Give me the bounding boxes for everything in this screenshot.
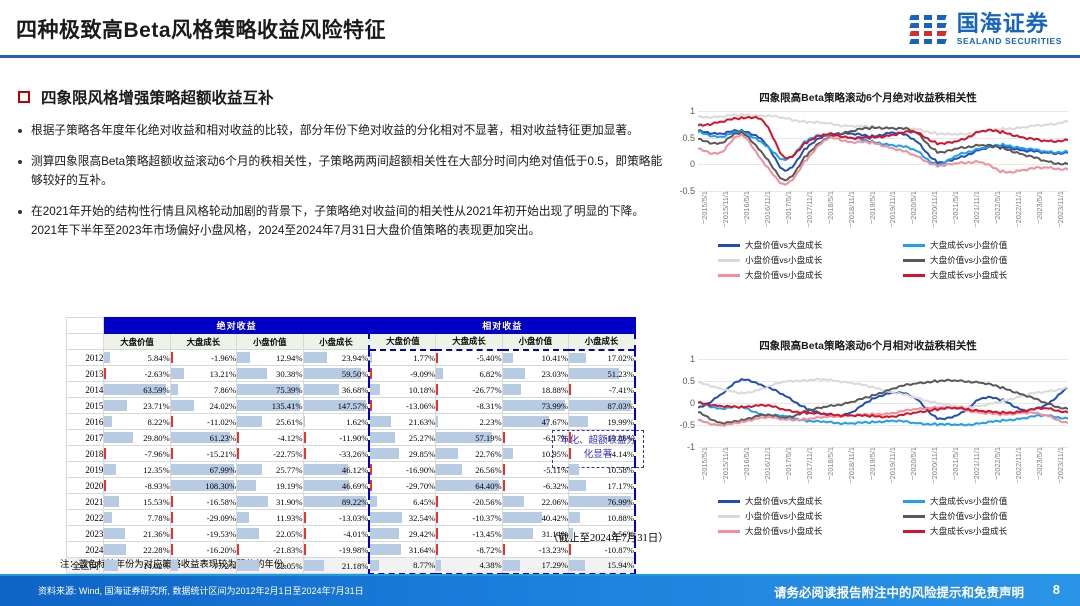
chart-x-tick-label: 2021/5/1 xyxy=(951,447,960,476)
table-cell-abs: 75.39% xyxy=(237,382,303,398)
legend-label: 大盘价值vs小盘成长 xyxy=(745,525,822,537)
cell-databar xyxy=(503,432,505,443)
table-cell-value: 47.67% xyxy=(542,417,569,427)
legend-label: 大盘成长vs小盘成长 xyxy=(930,269,1007,281)
cell-databar xyxy=(304,432,306,443)
table-cell-rel: 6.45% xyxy=(369,494,435,510)
legend-item[interactable]: 大盘价值vs小盘成长 xyxy=(718,269,889,281)
cell-databar xyxy=(237,544,239,555)
chart-x-tick-label: 2020/5/1 xyxy=(909,447,918,476)
cell-databar xyxy=(171,544,173,555)
cell-databar xyxy=(304,352,327,363)
table-cell-abs: 30.38% xyxy=(237,366,303,382)
chart-y-tick-label: -0.5 xyxy=(679,420,695,430)
legend-swatch-icon xyxy=(718,515,740,518)
table-cell-value: 3.56% xyxy=(612,529,634,539)
table-cell-abs: 11.93% xyxy=(237,510,303,526)
chart-x-tick-mark xyxy=(1060,223,1061,227)
table-sub-header: 小盘成长 xyxy=(569,334,635,350)
table-cell-value: 89.22% xyxy=(342,497,369,507)
table-cell-abs: 67.99% xyxy=(170,462,236,478)
table-cell-value: 8.22% xyxy=(148,417,170,427)
table-cell-value: 30.38% xyxy=(276,369,303,379)
table-row: 2018-7.96%-15.21%-22.75%-33.26%29.85%22.… xyxy=(67,446,636,462)
table-cell-abs: 24.02% xyxy=(170,398,236,414)
legend-swatch-icon xyxy=(718,530,740,533)
bullet-text: 根据子策略各年度年化绝对收益和相对收益的比较，部分年份下绝对收益的分化相对不显著… xyxy=(31,122,639,141)
table-cell-value: 8.77% xyxy=(413,560,435,570)
chart-x-tick-mark xyxy=(892,223,893,227)
square-bullet-icon xyxy=(18,91,30,103)
chart-x-tick-mark xyxy=(787,476,788,480)
table-cell-rel: -29.70% xyxy=(369,478,435,494)
table-sub-header: 大盘价值 xyxy=(369,334,435,350)
chart-title: 四象限高Beta策略滚动6个月相对收益秩相关性 xyxy=(662,338,1074,353)
table-cell-rel: -8.31% xyxy=(436,398,502,414)
table-cell-abs: 46.69% xyxy=(303,478,369,494)
table-cell-value: 23.03% xyxy=(542,369,569,379)
chart-x-tick-label: 2021/5/1 xyxy=(951,191,960,220)
cell-databar xyxy=(304,544,306,555)
list-item: 在2021年开始的结构性行情且风格轮动加剧的背景下，子策略绝对收益间的相关性从2… xyxy=(18,203,666,241)
table-cell-rel: -20.56% xyxy=(436,494,502,510)
table-row: 201523.71%24.02%135.41%147.57%-13.06%-8.… xyxy=(67,398,636,414)
table-cell-rel: 10.88% xyxy=(569,510,635,526)
table-cell-value: 51.23% xyxy=(608,369,635,379)
legend-label: 大盘成长vs小盘成长 xyxy=(930,525,1007,537)
table-cell-value: 17.17% xyxy=(608,481,635,491)
table-cell-abs: -13.03% xyxy=(303,510,369,526)
cell-databar xyxy=(569,384,571,395)
table-cell-rel: 40.42% xyxy=(502,510,568,526)
cell-databar xyxy=(304,528,306,539)
cell-databar xyxy=(569,416,588,427)
table-cell-value: -7.41% xyxy=(609,385,634,395)
table-cell-value: 24.02% xyxy=(210,401,237,411)
table-cell-abs: 21.18% xyxy=(303,558,369,574)
chart-x-axis: 2015/5/12015/11/12016/5/12016/11/12017/5… xyxy=(698,447,1068,493)
legend-item[interactable]: 大盘价值vs大盘成长 xyxy=(718,495,889,507)
cell-databar xyxy=(370,384,380,395)
chart-x-tick-mark xyxy=(913,220,914,224)
table-cell-abs: 8.22% xyxy=(104,414,170,430)
legend-item[interactable]: 大盘成长vs小盘成长 xyxy=(903,525,1074,537)
table-cell-value: -9.09% xyxy=(410,369,435,379)
table-row-year: 2013 xyxy=(67,366,104,382)
table-cell-rel: -10.37% xyxy=(436,510,502,526)
cell-databar xyxy=(503,464,505,475)
table-row: 2013-2.63%13.21%30.38%59.50%-9.09%6.82%2… xyxy=(67,366,636,382)
cell-databar xyxy=(304,560,324,571)
cell-databar xyxy=(569,448,571,459)
table-cell-value: 22.05% xyxy=(276,529,303,539)
table-cell-value: -19.98% xyxy=(339,545,368,555)
table-cell-value: 73.99% xyxy=(542,401,569,411)
table-cell-value: 19.99% xyxy=(608,417,635,427)
table-group-header-row: 绝对收益 相对收益 xyxy=(67,318,636,334)
table-cell-rel: 21.63% xyxy=(369,414,435,430)
table-cell-rel: 23.03% xyxy=(502,366,568,382)
table-cell-value: -8.72% xyxy=(477,545,502,555)
cell-databar xyxy=(569,432,571,443)
chart-x-tick-mark xyxy=(850,223,851,227)
cell-databar xyxy=(569,512,580,523)
cell-databar xyxy=(237,512,249,523)
cell-databar xyxy=(569,480,586,491)
table-cell-value: -4.12% xyxy=(277,433,302,443)
table-cell-rel: 8.77% xyxy=(369,558,435,574)
legend-item[interactable]: 大盘成长vs小盘价值 xyxy=(903,495,1074,507)
table-cell-value: 13.21% xyxy=(210,369,237,379)
legend-item[interactable]: 大盘价值vs小盘价值 xyxy=(903,510,1074,522)
cell-databar xyxy=(171,400,194,411)
table-cell-value: -15.21% xyxy=(207,449,236,459)
chart-x-tick-label: 2016/11/1 xyxy=(763,447,772,479)
legend-label: 小盘价值vs小盘成长 xyxy=(745,510,822,522)
chart-y-tick-label: 0 xyxy=(690,398,695,408)
legend-label: 大盘价值vs大盘成长 xyxy=(745,239,822,251)
chart-x-tick-mark xyxy=(892,479,893,483)
table-cell-rel: 10.41% xyxy=(502,350,568,366)
table-cell-value: -26.77% xyxy=(472,385,501,395)
chart-x-tick-label: 2018/11/1 xyxy=(847,191,856,223)
table-cell-abs: -19.53% xyxy=(170,526,236,542)
cell-databar xyxy=(104,400,127,411)
chart-x-tick-label: 2017/5/1 xyxy=(784,191,793,220)
table-cell-value: 23.71% xyxy=(143,401,170,411)
legend-swatch-icon xyxy=(903,500,925,503)
table-cell-value: 4.38% xyxy=(479,560,501,570)
cell-databar xyxy=(436,384,438,395)
chart-x-tick-label: 2020/11/1 xyxy=(930,447,939,479)
chart-x-tick-label: 2017/5/1 xyxy=(784,447,793,476)
section-heading-row: 四象限风格增强策略超额收益互补 xyxy=(18,86,666,108)
table-sub-header-row: 大盘价值大盘成长小盘价值小盘成长大盘价值大盘成长小盘价值小盘成长 xyxy=(67,334,636,350)
chart-title: 四象限高Beta策略滚动6个月绝对收益秩相关性 xyxy=(662,90,1074,105)
chart-y-tick-label: 1 xyxy=(690,106,695,116)
table-cell-value: 63.59% xyxy=(143,385,170,395)
chart-series-svg xyxy=(698,111,1068,191)
table-sub-header: 大盘成长 xyxy=(436,334,502,350)
table-cell-rel: 25.27% xyxy=(369,430,435,446)
chart-x-tick-label: 2023/11/1 xyxy=(1056,191,1065,223)
bullet-text: 在2021年开始的结构性行情且风格轮动加剧的背景下，子策略绝对收益间的相关性从2… xyxy=(31,203,666,241)
table-cell-abs: -4.01% xyxy=(303,526,369,542)
table-cell-value: -19.53% xyxy=(207,529,236,539)
table-row: 20168.22%-11.02%25.61%1.62%21.63%2.23%47… xyxy=(67,414,636,430)
chart-x-tick-label: 2019/5/1 xyxy=(868,447,877,476)
table-cell-rel: 15.94% xyxy=(569,558,635,574)
cell-databar xyxy=(569,544,571,555)
table-cell-abs: 7.86% xyxy=(170,382,236,398)
chart-x-tick-mark xyxy=(871,220,872,224)
chart-y-tick-label: 0.5 xyxy=(682,133,695,143)
chart-x-tick-mark xyxy=(829,220,830,224)
annual-return-table-wrapper: 绝对收益 相对收益 大盘价值大盘成长小盘价值小盘成长大盘价值大盘成长小盘价值小盘… xyxy=(66,317,636,575)
chart-x-tick-label: 2019/5/1 xyxy=(868,191,877,220)
table-cell-value: 10.18% xyxy=(409,385,436,395)
table-cell-rel: -9.09% xyxy=(369,366,435,382)
table-cell-value: -4.14% xyxy=(609,449,634,459)
chart-x-tick-label: 2015/11/1 xyxy=(721,191,730,223)
cell-databar xyxy=(436,496,438,507)
chart-x-tick-label: 2017/11/1 xyxy=(805,447,814,479)
table-cell-value: -11.02% xyxy=(207,417,236,427)
table-cell-rel: 17.29% xyxy=(502,558,568,574)
table-cell-value: 6.82% xyxy=(479,369,501,379)
table-cell-value: 29.80% xyxy=(143,433,170,443)
cell-databar xyxy=(503,448,514,459)
annual-return-table: 绝对收益 相对收益 大盘价值大盘成长小盘价值小盘成长大盘价值大盘成长小盘价值小盘… xyxy=(66,317,636,575)
table-cell-value: -11.90% xyxy=(339,433,368,443)
cell-databar xyxy=(104,448,106,459)
table-row-year: 2022 xyxy=(67,510,104,526)
table-cell-value: 31.90% xyxy=(276,497,303,507)
table-cell-value: -20.56% xyxy=(472,497,501,507)
footer-disclaimer: 请务必阅读报告附注中的风险提示和免责声明 xyxy=(774,582,1024,601)
table-cell-value: -6.17% xyxy=(543,433,568,443)
legend-item[interactable]: 大盘成长vs小盘成长 xyxy=(903,269,1074,281)
table-cell-rel: 2.23% xyxy=(436,414,502,430)
cell-databar xyxy=(503,384,521,395)
cell-databar xyxy=(569,560,584,571)
content-left-column: 四象限风格增强策略超额收益互补 根据子策略各年度年化绝对收益和相对收益的比较，部… xyxy=(18,86,666,253)
table-cell-value: 14.02% xyxy=(143,561,170,571)
chart-y-tick-label: 0 xyxy=(690,159,695,169)
table-cell-value: -8.31% xyxy=(477,401,502,411)
table-sub-header: 大盘成长 xyxy=(170,334,236,350)
bullet-list: 根据子策略各年度年化绝对收益和相对收益的比较，部分年份下绝对收益的分化相对不显著… xyxy=(18,122,666,241)
table-cell-rel: 47.67% xyxy=(502,414,568,430)
table-cell-rel: 73.99% xyxy=(502,398,568,414)
table-cell-abs: 15.53% xyxy=(104,494,170,510)
cell-databar xyxy=(171,416,173,427)
table-corner-cell xyxy=(67,318,104,334)
table-cell-value: -2.63% xyxy=(145,369,170,379)
chart-x-tick-label: 2022/5/1 xyxy=(993,191,1002,220)
group-header-relative: 相对收益 xyxy=(369,318,635,334)
table-cell-rel: 18.88% xyxy=(502,382,568,398)
chart-x-tick-mark xyxy=(808,223,809,227)
cell-databar xyxy=(503,544,505,555)
table-cell-value: -1.96% xyxy=(211,353,236,363)
chart-x-tick-mark xyxy=(1018,223,1019,227)
table-cell-value: 76.99% xyxy=(608,497,635,507)
table-cell-rel: 22.76% xyxy=(436,446,502,462)
cell-databar xyxy=(304,512,306,523)
cell-databar xyxy=(104,480,106,491)
table-cell-rel: 19.99% xyxy=(569,414,635,430)
table-cell-abs: -2.63% xyxy=(104,366,170,382)
chart-x-tick-mark xyxy=(997,476,998,480)
table-cell-abs: 22.05% xyxy=(237,526,303,542)
table-cell-value: -5.40% xyxy=(477,353,502,363)
legend-label: 大盘价值vs小盘价值 xyxy=(930,510,1007,522)
chart-x-tick-mark xyxy=(955,220,956,224)
cell-databar xyxy=(436,353,438,364)
chart-legend: 大盘价值vs大盘成长大盘成长vs小盘价值小盘价值vs小盘成长大盘价值vs小盘价值… xyxy=(662,495,1074,537)
cell-databar xyxy=(237,432,239,443)
table-cell-rel: 6.82% xyxy=(436,366,502,382)
table-cell-value: 7.86% xyxy=(214,385,236,395)
cell-databar xyxy=(370,432,394,443)
table-corner-cell-2 xyxy=(67,334,104,350)
table-cell-value: 10.95% xyxy=(542,449,569,459)
table-cell-abs: 63.59% xyxy=(104,382,170,398)
cell-databar xyxy=(171,496,173,507)
table-cell-value: -33.26% xyxy=(339,449,368,459)
chart-legend: 大盘价值vs大盘成长大盘成长vs小盘价值小盘价值vs小盘成长大盘价值vs小盘价值… xyxy=(662,239,1074,281)
chart-x-tick-mark xyxy=(745,476,746,480)
group-header-absolute: 绝对收益 xyxy=(104,318,370,334)
chart-y-tick-label: 1 xyxy=(690,354,695,364)
table-cell-abs: 21.36% xyxy=(104,526,170,542)
table-cell-abs: 29.80% xyxy=(104,430,170,446)
cell-databar xyxy=(104,416,112,427)
list-item: 根据子策略各年度年化绝对收益和相对收益的比较，部分年份下绝对收益的分化相对不显著… xyxy=(18,122,666,141)
table-row-year: 2014 xyxy=(67,382,104,398)
legend-item[interactable]: 大盘成长vs小盘价值 xyxy=(903,239,1074,251)
table-row-year: 2023 xyxy=(67,526,104,542)
table-cell-value: -6.32% xyxy=(543,481,568,491)
cell-databar xyxy=(104,512,112,523)
table-cell-abs: -11.02% xyxy=(170,414,236,430)
cell-databar xyxy=(436,448,458,459)
legend-item[interactable]: 大盘价值vs小盘价值 xyxy=(903,254,1074,266)
table-cell-value: 22.28% xyxy=(143,545,170,555)
table-sub-header: 大盘价值 xyxy=(104,334,170,350)
table-cell-value: 46.69% xyxy=(342,481,369,491)
table-cell-abs: 12.94% xyxy=(237,350,303,366)
table-cell-value: 21.36% xyxy=(143,529,170,539)
table-cell-value: -7.96% xyxy=(145,449,170,459)
table-cell-abs: -16.58% xyxy=(170,494,236,510)
table-cell-rel: -8.72% xyxy=(436,542,502,558)
table-cell-value: 5.84% xyxy=(148,353,170,363)
legend-item[interactable]: 大盘价值vs大盘成长 xyxy=(718,239,889,251)
legend-label: 大盘价值vs小盘价值 xyxy=(930,254,1007,266)
table-cell-abs: -29.09% xyxy=(170,510,236,526)
cell-databar xyxy=(503,480,505,491)
table-cell-value: -13.03% xyxy=(339,513,368,523)
legend-label: 大盘价值vs小盘成长 xyxy=(745,269,822,281)
table-cell-value: 12.35% xyxy=(143,465,170,475)
cell-databar xyxy=(370,512,401,523)
table-cell-value: -29.70% xyxy=(406,481,435,491)
cell-databar xyxy=(370,560,378,571)
chart-x-tick-label: 2018/11/1 xyxy=(847,447,856,479)
list-item: 测算四象限高Beta策略超额收益滚动6个月的秩相关性，子策略两两间超额相关性在大… xyxy=(18,153,666,191)
chart-x-tick-mark xyxy=(1060,479,1061,483)
table-cell-value: 46.12% xyxy=(342,465,369,475)
table-cell-value: -13.45% xyxy=(472,529,501,539)
legend-label: 大盘成长vs小盘价值 xyxy=(930,239,1007,251)
chart-x-tick-mark xyxy=(997,220,998,224)
table-sub-header: 小盘价值 xyxy=(237,334,303,350)
table-cell-value: -5.11% xyxy=(543,465,568,475)
table-row-year: 2012 xyxy=(67,350,104,366)
footer-source: 资料来源: Wind, 国海证券研究所, 数据统计区间为2012年2月1日至20… xyxy=(38,584,364,597)
table-cell-value: -21.83% xyxy=(273,545,302,555)
chart-x-tick-mark xyxy=(724,479,725,483)
table-cell-value: 26.56% xyxy=(475,465,502,475)
table-cell-abs: -33.26% xyxy=(303,446,369,462)
table-cell-value: 36.68% xyxy=(342,385,369,395)
table-cell-value: -10.87% xyxy=(605,545,634,555)
table-cell-value: 17.29% xyxy=(542,560,569,570)
chart-x-tick-label: 2019/11/1 xyxy=(888,191,897,223)
dot-bullet-icon xyxy=(18,160,22,164)
cell-databar xyxy=(569,353,585,364)
table-cell-value: 25.27% xyxy=(409,433,436,443)
table-cell-value: 135.41% xyxy=(272,401,303,411)
table-cell-value: 2.23% xyxy=(479,417,501,427)
table-cell-abs: 108.30% xyxy=(170,478,236,494)
cell-databar xyxy=(436,416,438,427)
table-row: 20227.78%-29.09%11.93%-13.03%32.54%-10.3… xyxy=(67,510,636,526)
chart-x-tick-mark xyxy=(724,223,725,227)
table-cell-rel: 4.38% xyxy=(436,558,502,574)
cell-databar xyxy=(436,464,462,475)
table-cell-abs: 1.62% xyxy=(303,414,369,430)
cell-databar xyxy=(370,400,372,411)
table-cell-value: -16.20% xyxy=(207,545,236,555)
chart-x-tick-label: 2019/11/1 xyxy=(888,447,897,479)
table-cell-value: 75.39% xyxy=(276,385,303,395)
chart-x-tick-mark xyxy=(934,479,935,483)
bullet-text: 测算四象限高Beta策略超额收益滚动6个月的秩相关性，子策略两两间超额相关性在大… xyxy=(31,153,666,191)
chart-x-tick-label: 2017/11/1 xyxy=(805,191,814,223)
brand-logo: 国海证券 SEALAND SECURITIES xyxy=(908,12,1062,46)
table-row-year: 2016 xyxy=(67,414,104,430)
cell-databar xyxy=(171,352,173,363)
table-cell-value: 59.50% xyxy=(342,369,369,379)
cell-databar xyxy=(370,544,401,555)
cell-databar xyxy=(104,544,126,555)
chart-x-tick-label: 2022/11/1 xyxy=(1014,191,1023,223)
table-cell-rel: -6.32% xyxy=(502,478,568,494)
table-cell-value: -29.09% xyxy=(207,513,236,523)
cell-databar xyxy=(104,368,106,379)
chart-x-tick-mark xyxy=(745,220,746,224)
table-cell-abs: 19.19% xyxy=(237,478,303,494)
legend-item[interactable]: 小盘价值vs小盘成长 xyxy=(718,254,889,266)
chart-x-tick-label: 2020/11/1 xyxy=(930,191,939,223)
table-cell-rel: 29.42% xyxy=(369,526,435,542)
chart-x-tick-mark xyxy=(871,476,872,480)
table-cell-rel: -13.06% xyxy=(369,398,435,414)
table-row: 20125.84%-1.96%12.94%23.94%1.77%-5.40%10… xyxy=(67,350,636,366)
cell-databar xyxy=(171,512,173,523)
legend-swatch-icon xyxy=(718,274,740,277)
legend-swatch-icon xyxy=(718,259,740,262)
table-cell-rel: -26.77% xyxy=(436,382,502,398)
legend-item[interactable]: 小盘价值vs小盘成长 xyxy=(718,510,889,522)
cell-databar xyxy=(370,448,399,459)
legend-label: 大盘成长vs小盘价值 xyxy=(930,495,1007,507)
table-cell-value: 87.03% xyxy=(608,401,635,411)
table-cell-value: 29.85% xyxy=(409,449,436,459)
table-cell-abs: 36.68% xyxy=(303,382,369,398)
table-cell-value: 12.94% xyxy=(276,353,303,363)
chart-x-tick-mark xyxy=(976,479,977,483)
table-row: 202115.53%-16.58%31.90%89.22%6.45%-20.56… xyxy=(67,494,636,510)
legend-swatch-icon xyxy=(903,244,925,247)
table-cell-rel: 57.19% xyxy=(436,430,502,446)
chart-y-tick-label: 0.5 xyxy=(682,376,695,386)
table-cell-rel: 17.02% xyxy=(569,350,635,366)
legend-item[interactable]: 大盘价值vs小盘成长 xyxy=(718,525,889,537)
